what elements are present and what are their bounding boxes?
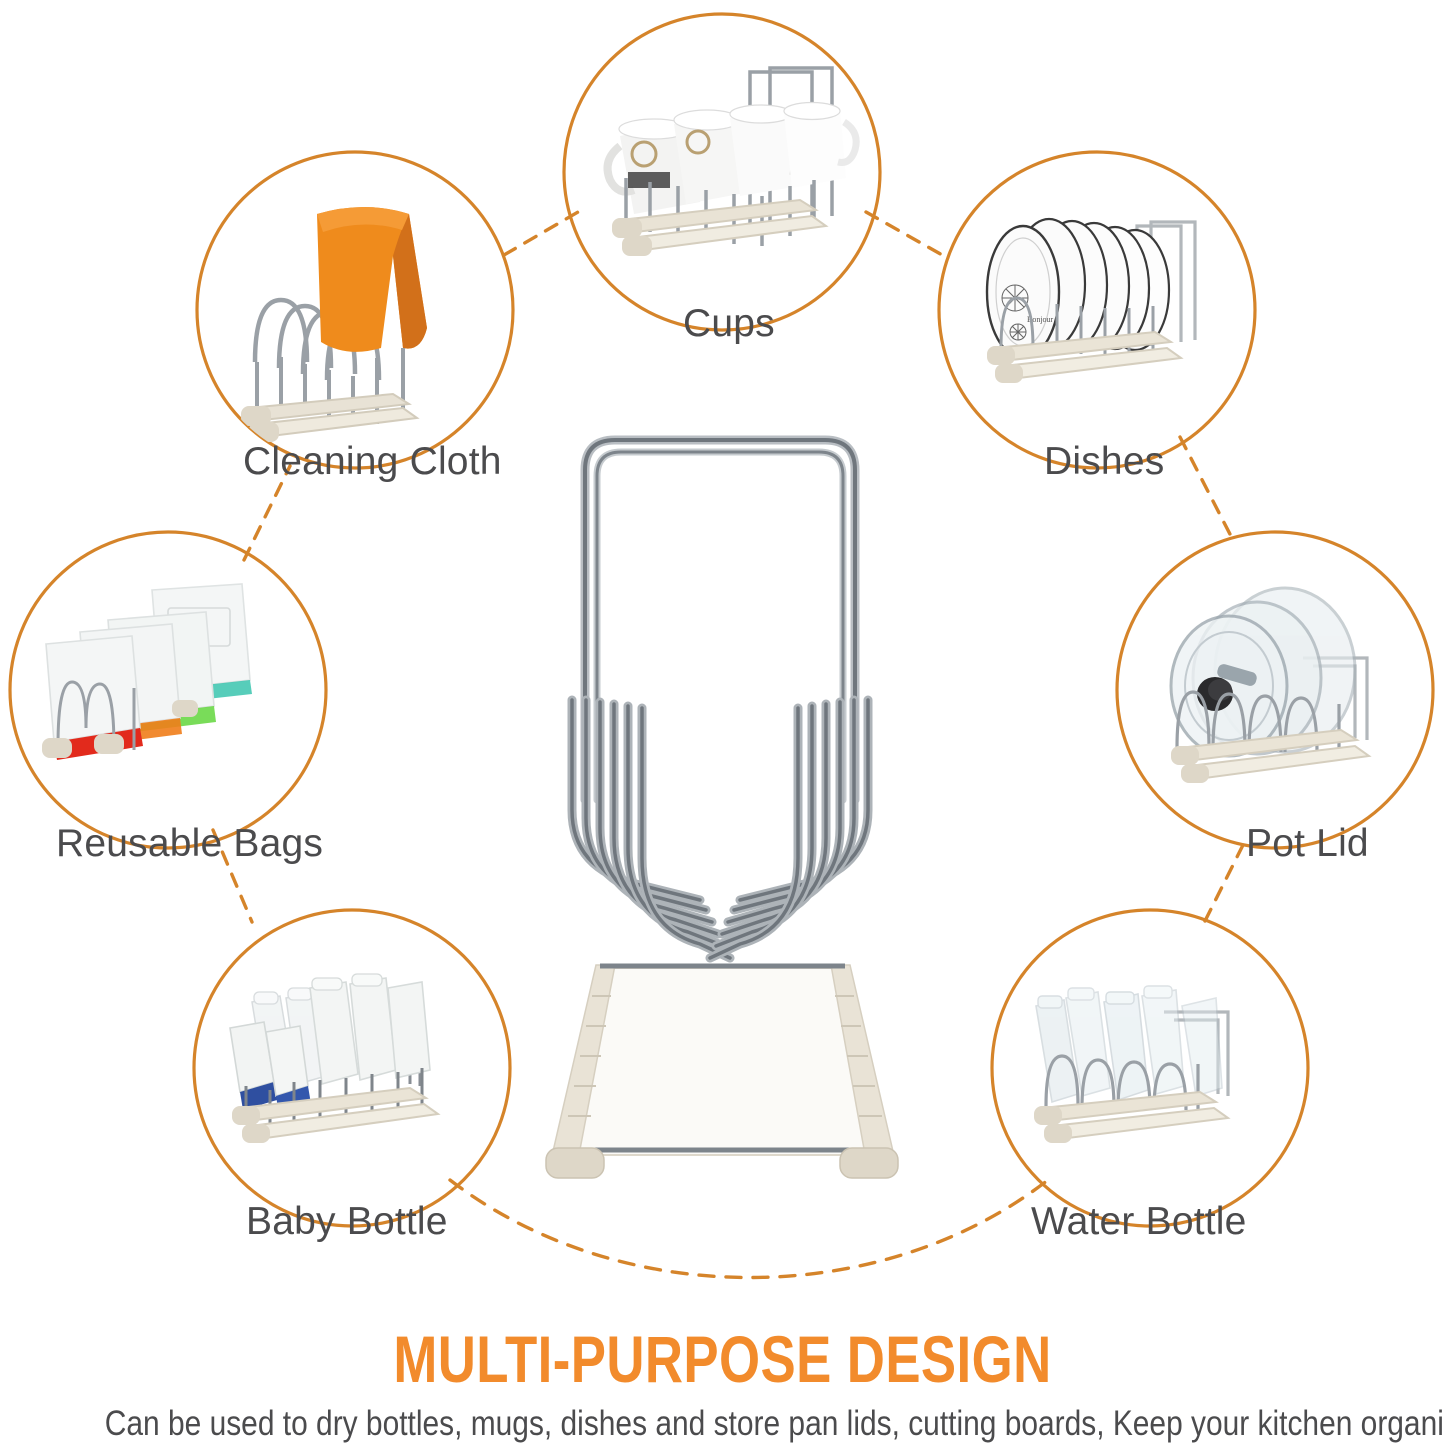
label-baby-bottle: Baby Bottle <box>246 1200 448 1244</box>
label-cleaning-cloth: Cleaning Cloth <box>243 440 502 484</box>
label-reusable-bags: Reusable Bags <box>56 822 323 866</box>
headline-block: MULTI-PURPOSE DESIGN Can be used to dry … <box>0 1325 1445 1442</box>
water-bottle-illustration <box>992 910 1308 1226</box>
label-water-bottle: Water Bottle <box>1031 1200 1247 1244</box>
bubble-water-bottle <box>992 910 1308 1226</box>
connector-bottom-arc <box>450 1180 1048 1278</box>
infographic-canvas: Cleaning Cloth <box>0 0 1445 1437</box>
center-product-rack <box>546 440 898 1178</box>
page-title: MULTI-PURPOSE DESIGN <box>145 1325 1301 1394</box>
label-pot-lid: Pot Lid <box>1246 822 1369 866</box>
cups-illustration <box>564 14 880 330</box>
bubble-cups <box>564 14 880 330</box>
dishes-illustration: Bonjour <box>939 152 1255 468</box>
label-dishes: Dishes <box>1044 440 1164 484</box>
reusable-bags-illustration <box>10 532 326 848</box>
bubble-pot-lid <box>1117 532 1433 848</box>
bubble-dishes: Bonjour <box>939 152 1255 468</box>
baby-bottle-illustration <box>194 910 510 1226</box>
pot-lid-illustration <box>1117 532 1433 848</box>
bubble-cleaning-cloth <box>197 152 513 468</box>
label-cups: Cups <box>683 302 775 346</box>
bubble-baby-bottle <box>194 910 510 1226</box>
bubble-reusable-bags <box>10 532 326 848</box>
cleaning-cloth-illustration <box>197 152 513 468</box>
